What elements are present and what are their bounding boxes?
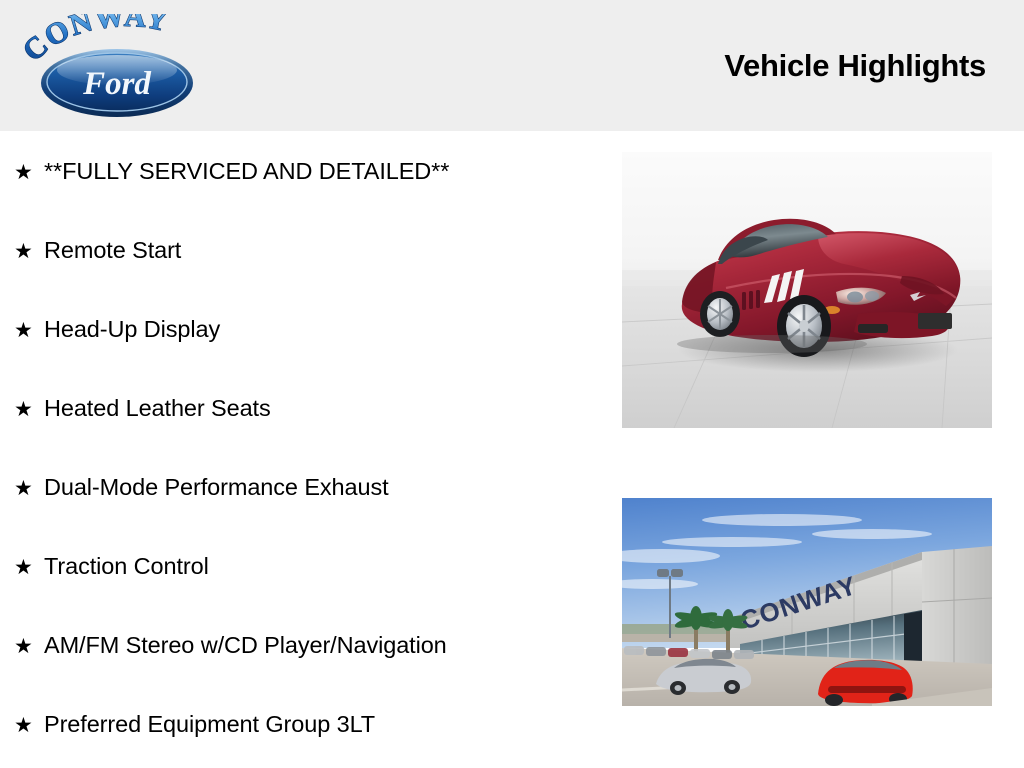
corvette-illustration-icon (622, 152, 992, 428)
star-bullet-icon: ★ (14, 399, 44, 420)
list-item: ★ Remote Start (14, 235, 181, 267)
list-item-label: Head-Up Display (44, 318, 220, 342)
page-header: CONWAY (0, 0, 1024, 131)
list-item: ★ Traction Control (14, 551, 209, 583)
list-item-label: Traction Control (44, 555, 209, 579)
dealer-logo[interactable]: CONWAY (22, 14, 212, 118)
vehicle-photo[interactable] (622, 152, 992, 428)
star-bullet-icon: ★ (14, 636, 44, 657)
star-bullet-icon: ★ (14, 162, 44, 183)
list-item-label: AM/FM Stereo w/CD Player/Navigation (44, 634, 447, 658)
ford-oval-icon: Ford (40, 46, 195, 118)
star-bullet-icon: ★ (14, 478, 44, 499)
list-item-label: Remote Start (44, 239, 181, 263)
list-item: ★ Head-Up Display (14, 314, 220, 346)
ford-script-text: Ford (82, 66, 151, 102)
star-bullet-icon: ★ (14, 715, 44, 736)
star-bullet-icon: ★ (14, 241, 44, 262)
list-item: ★ AM/FM Stereo w/CD Player/Navigation (14, 630, 447, 662)
dealership-photo[interactable]: CONWAY (622, 498, 992, 706)
star-bullet-icon: ★ (14, 320, 44, 341)
list-item: ★ Heated Leather Seats (14, 393, 271, 425)
list-item: ★ Dual-Mode Performance Exhaust (14, 472, 389, 504)
star-bullet-icon: ★ (14, 557, 44, 578)
list-item-label: **FULLY SERVICED AND DETAILED** (44, 160, 449, 184)
page-title: Vehicle Highlights (724, 48, 986, 84)
dealership-illustration-icon: CONWAY (622, 498, 992, 706)
vehicle-highlights-list: ★ **FULLY SERVICED AND DETAILED** ★ Remo… (0, 131, 610, 768)
list-item: ★ Preferred Equipment Group 3LT (14, 709, 375, 741)
list-item-label: Heated Leather Seats (44, 397, 271, 421)
media-column: CONWAY (622, 131, 1024, 768)
list-item-label: Preferred Equipment Group 3LT (44, 713, 375, 737)
list-item-label: Dual-Mode Performance Exhaust (44, 476, 389, 500)
list-item: ★ **FULLY SERVICED AND DETAILED** (14, 156, 449, 188)
